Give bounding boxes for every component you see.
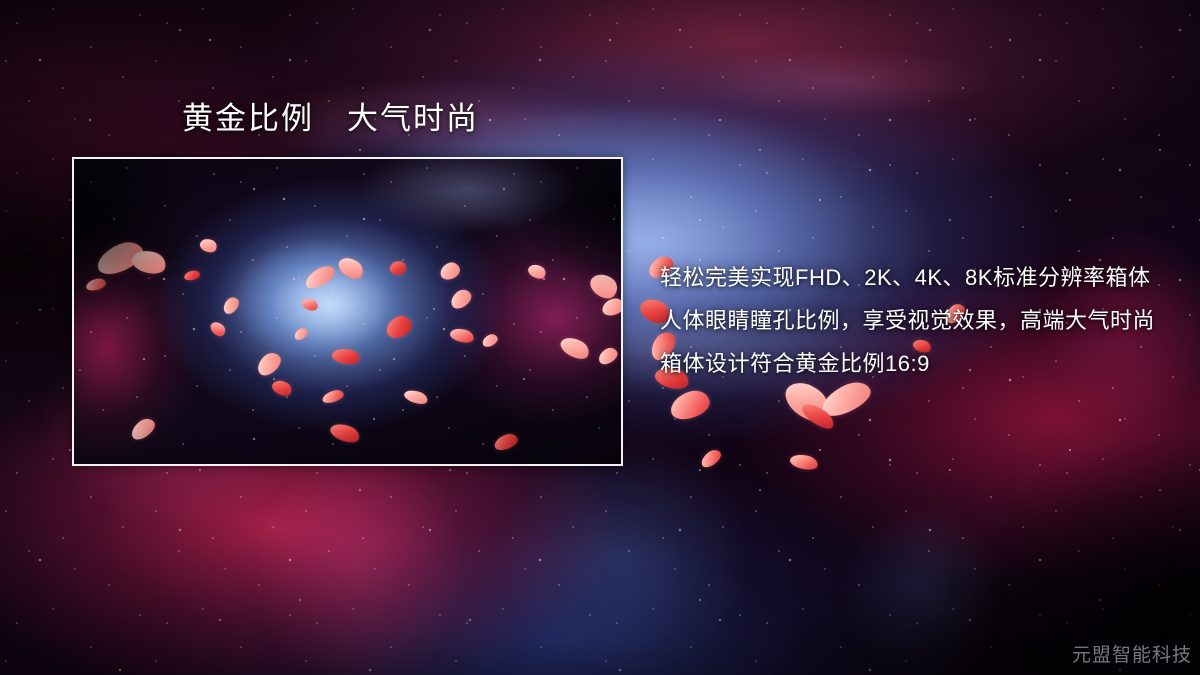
inset-vignette [74, 159, 621, 464]
watermark: 元盟智能科技 [1072, 640, 1192, 667]
slide-title: 黄金比例 大气时尚 [182, 100, 479, 139]
presentation-slide: 黄金比例 大气时尚 轻松完美实现FHD、2K、4K、8K标准分辨率箱体 人体眼睛… [0, 0, 1200, 675]
body-line-2: 人体眼睛瞳孔比例，享受视觉效果，高端大气时尚 [660, 299, 1155, 342]
body-line-1: 轻松完美实现FHD、2K、4K、8K标准分辨率箱体 [660, 256, 1155, 299]
inset-image-frame [72, 157, 623, 466]
body-line-3: 箱体设计符合黄金比例16:9 [660, 342, 1155, 385]
slide-body-text: 轻松完美实现FHD、2K、4K、8K标准分辨率箱体 人体眼睛瞳孔比例，享受视觉效… [660, 256, 1155, 385]
